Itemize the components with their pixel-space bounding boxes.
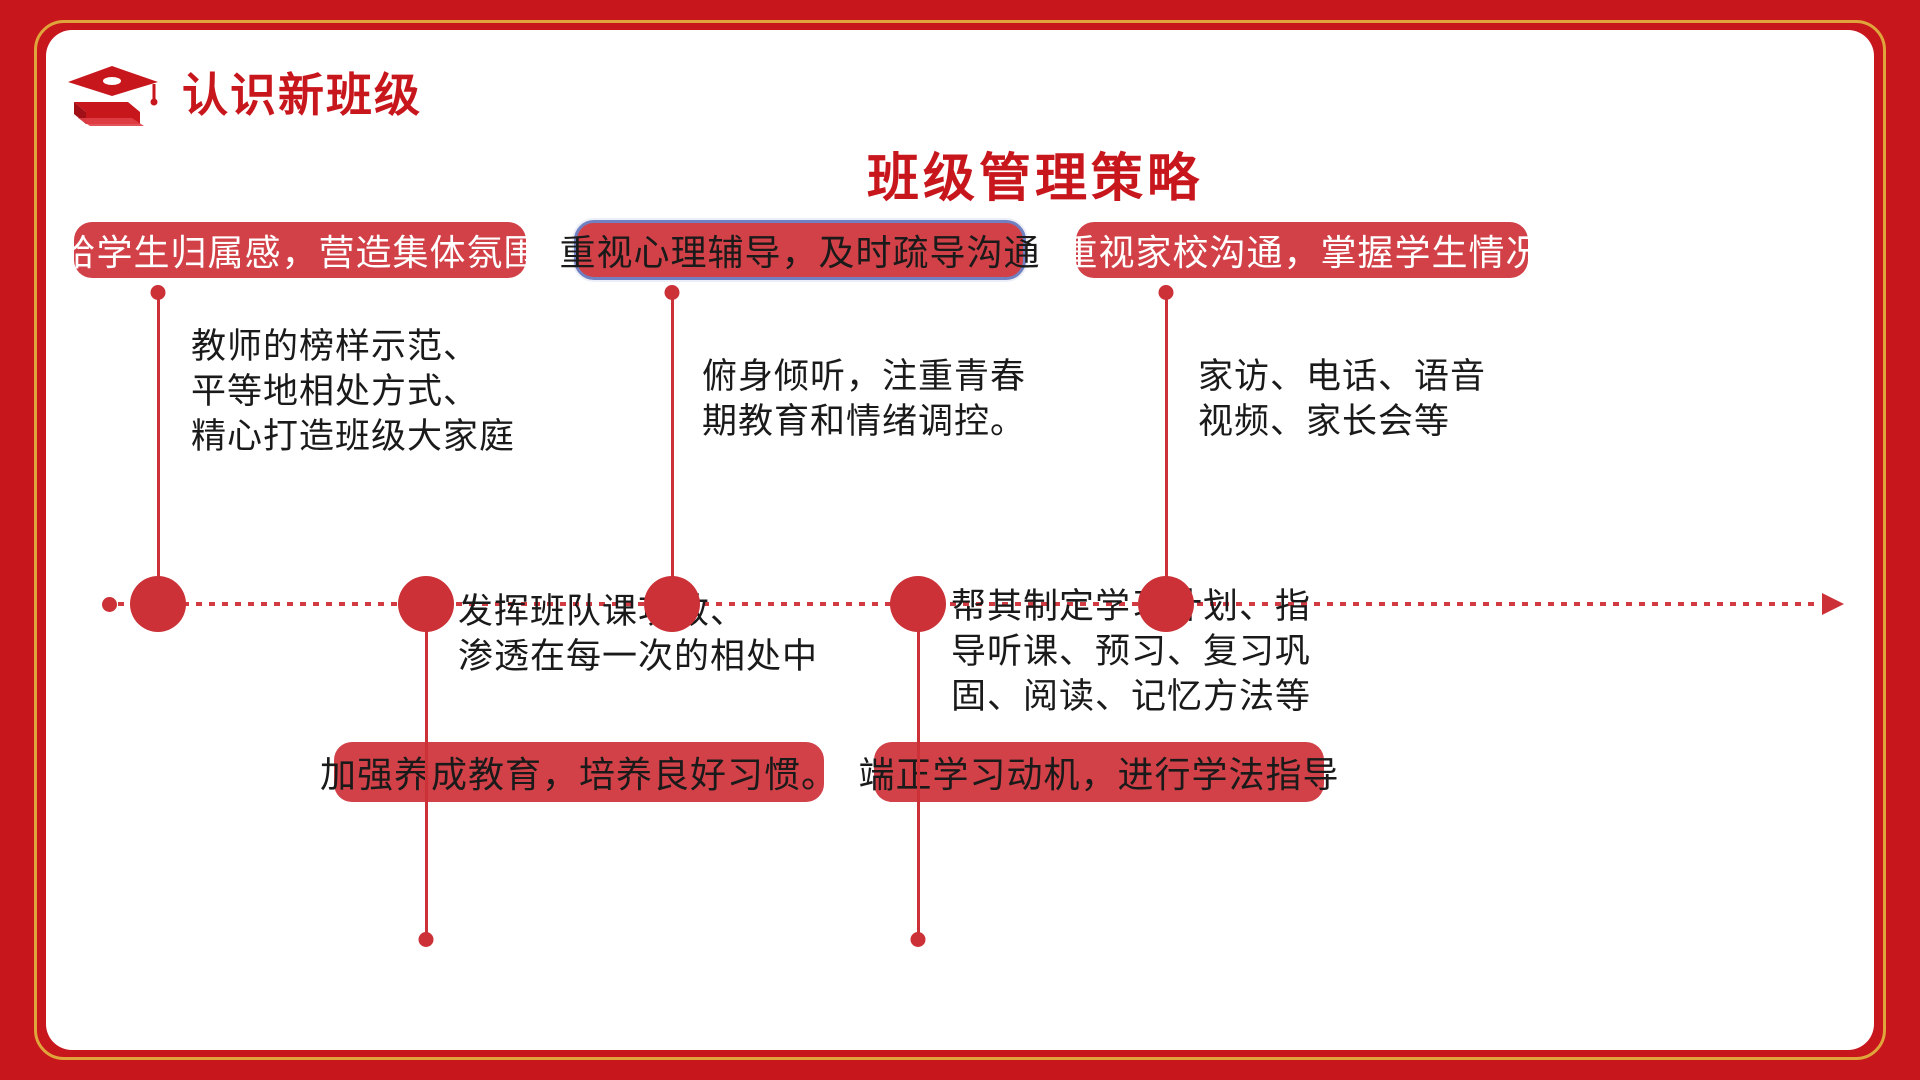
- node-stem-cap-3: [665, 285, 680, 300]
- slide-white-canvas: 认识新班级 班级管理策略 给学生归属感，营造集体氛围 教师的榜样示范、 平等地相…: [46, 30, 1874, 1050]
- node-pill-5[interactable]: 重视家校沟通，掌握学生情况: [1076, 222, 1528, 278]
- graduation-cap-books-icon: [66, 62, 164, 128]
- node-description-3: 俯身倾听，注重青春 期教育和情绪调控。: [702, 355, 1082, 445]
- node-stem-cap-4: [911, 932, 926, 947]
- node-stem-2: [425, 604, 428, 939]
- node-dot-4[interactable]: [890, 576, 946, 632]
- node-stem-cap-5: [1159, 285, 1174, 300]
- node-stem-1: [157, 292, 160, 602]
- node-dot-5[interactable]: [1138, 576, 1194, 632]
- node-stem-5: [1165, 292, 1168, 602]
- node-pill-3[interactable]: 重视心理辅导，及时疏导沟通: [574, 220, 1026, 280]
- node-stem-cap-1: [151, 285, 166, 300]
- node-dot-2[interactable]: [398, 576, 454, 632]
- axis-start-dot-icon: [102, 597, 117, 612]
- node-stem-4: [917, 604, 920, 939]
- slide-root: 认识新班级 班级管理策略 给学生归属感，营造集体氛围 教师的榜样示范、 平等地相…: [0, 0, 1920, 1080]
- header-title: 认识新班级: [182, 72, 422, 118]
- node-description-1: 教师的榜样示范、 平等地相处方式、 精心打造班级大家庭: [191, 325, 591, 459]
- node-stem-cap-2: [419, 932, 434, 947]
- node-dot-1[interactable]: [130, 576, 186, 632]
- node-pill-2[interactable]: 加强养成教育，培养良好习惯。: [334, 742, 824, 802]
- node-pill-4[interactable]: 端正学习动机，进行学法指导: [874, 742, 1324, 802]
- axis-arrow-icon: [1822, 593, 1844, 615]
- node-stem-3: [671, 292, 674, 602]
- slide-header: 认识新班级: [66, 62, 422, 128]
- page-title: 班级管理策略: [46, 136, 1874, 211]
- node-dot-3[interactable]: [644, 576, 700, 632]
- node-pill-1[interactable]: 给学生归属感，营造集体氛围: [74, 222, 526, 278]
- node-description-5: 家访、电话、语音 视频、家长会等: [1198, 355, 1558, 445]
